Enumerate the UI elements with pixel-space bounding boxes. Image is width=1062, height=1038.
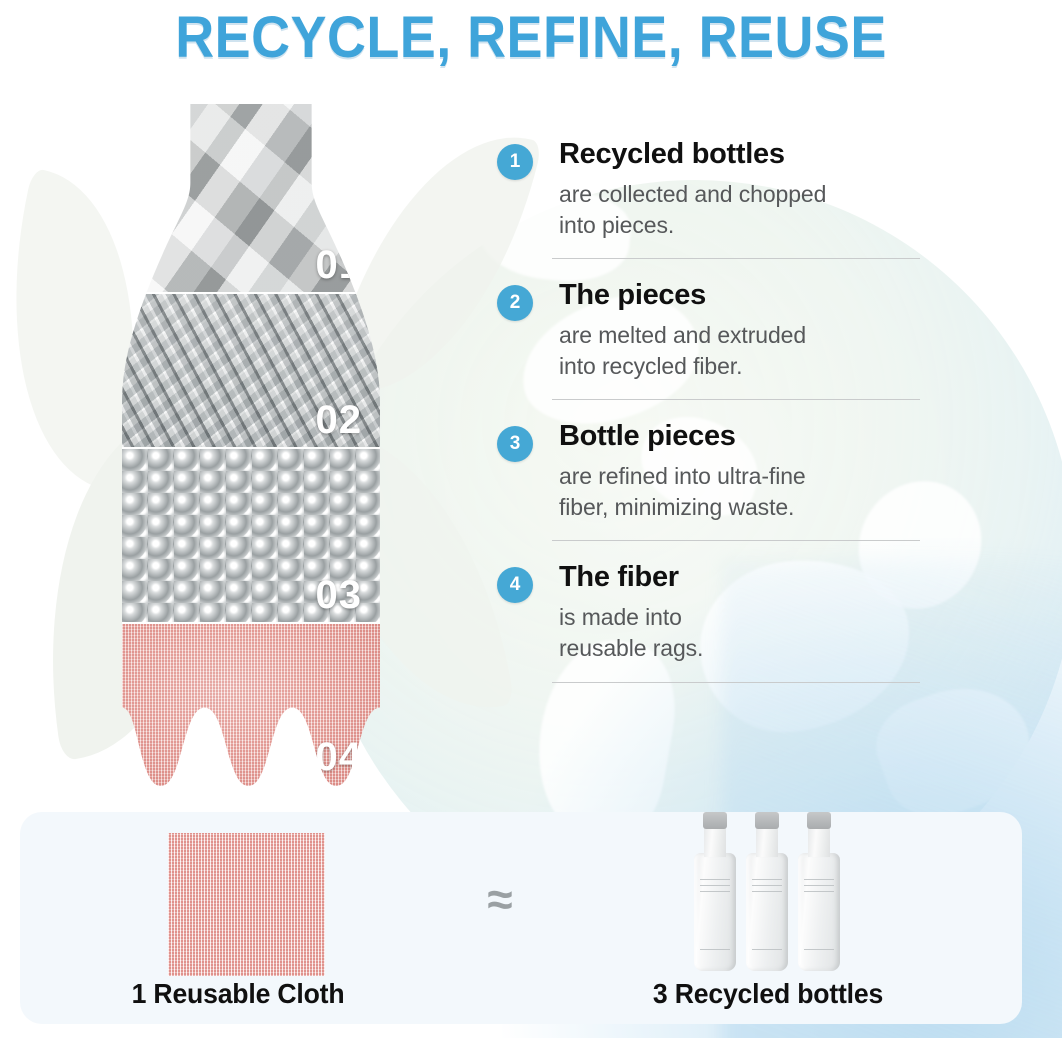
step-body-line: into recycled fiber. <box>559 351 937 382</box>
step-body: are melted and extruded into recycled fi… <box>559 320 937 381</box>
step-item-4: 4 The fiber is made into reusable rags. <box>497 563 937 663</box>
step-title: The pieces <box>559 281 937 310</box>
bottle-stage-diagram: 01 02 03 04 <box>122 104 380 786</box>
cloth-caption: 1 Reusable Cloth <box>96 978 381 1010</box>
step-body-line: are refined into ultra-fine <box>559 461 937 492</box>
bottle-band-label: 02 <box>316 398 363 443</box>
step-divider <box>552 540 920 541</box>
step-title: Bottle pieces <box>559 422 937 451</box>
step-title: Recycled bottles <box>559 140 937 169</box>
plastic-bottle-icon <box>694 853 736 971</box>
step-body-line: into pieces. <box>559 210 937 241</box>
step-divider <box>552 258 920 259</box>
step-body: is made into reusable rags. <box>559 602 937 663</box>
step-body: are collected and chopped into pieces. <box>559 179 937 240</box>
infographic-page: RECYCLE, REFINE, REUSE 01 02 03 04 1 Rec… <box>0 0 1062 1038</box>
step-number-badge: 3 <box>497 426 533 462</box>
step-number-badge: 4 <box>497 567 533 603</box>
step-number-badge: 2 <box>497 285 533 321</box>
bottle-band-label: 03 <box>316 573 363 618</box>
step-body-line: reusable rags. <box>559 633 937 664</box>
bottle-band-label: 04 <box>316 735 363 780</box>
bottle-band-04: 04 <box>122 624 380 786</box>
step-divider <box>552 399 920 400</box>
step-number-badge: 1 <box>497 144 533 180</box>
plastic-bottle-icon <box>798 853 840 971</box>
step-item-1: 1 Recycled bottles are collected and cho… <box>497 140 937 240</box>
step-body-line: are melted and extruded <box>559 320 937 351</box>
bottles-caption: 3 Recycled bottles <box>626 978 911 1010</box>
page-title: RECYCLE, REFINE, REUSE <box>37 4 1025 71</box>
step-body-line: is made into <box>559 602 937 633</box>
step-item-2: 2 The pieces are melted and extruded int… <box>497 281 937 381</box>
reusable-cloth-swatch <box>168 833 325 976</box>
steps-list: 1 Recycled bottles are collected and cho… <box>497 140 937 705</box>
bottle-band-02: 02 <box>122 294 380 449</box>
step-divider <box>552 682 920 683</box>
bottle-band-03: 03 <box>122 449 380 624</box>
bottle-band-01: 01 <box>122 104 380 294</box>
step-item-3: 3 Bottle pieces are refined into ultra-f… <box>497 422 937 522</box>
step-title: The fiber <box>559 563 937 592</box>
step-body-line: are collected and chopped <box>559 179 937 210</box>
approximately-equal-icon: ≈ <box>470 876 530 922</box>
step-body: are refined into ultra-fine fiber, minim… <box>559 461 937 522</box>
recycled-bottles-illustration <box>694 821 842 971</box>
plastic-bottle-icon <box>746 853 788 971</box>
bottle-band-label: 01 <box>316 243 363 288</box>
step-body-line: fiber, minimizing waste. <box>559 492 937 523</box>
